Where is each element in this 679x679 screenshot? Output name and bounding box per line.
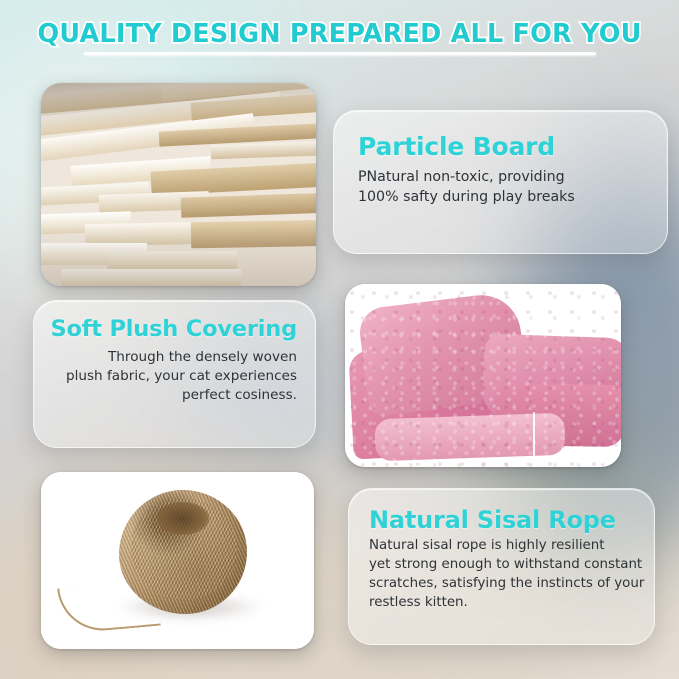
feature-body-natural-sisal-rope: Natural sisal rope is highly resilient y…	[369, 537, 654, 612]
sisal-rope-ball-photo	[41, 472, 314, 649]
infographic-canvas: QUALITY DESIGN PREPARED ALL FOR YOU	[0, 0, 679, 679]
feature-card-soft-plush-covering: Soft Plush Covering Through the densely …	[33, 300, 316, 448]
plush-photo-texture	[345, 284, 621, 467]
rope-ball-center	[157, 502, 208, 534]
particle-board-photo-surface	[41, 83, 316, 286]
feature-title-natural-sisal-rope: Natural Sisal Rope	[369, 507, 654, 533]
page-title: QUALITY DESIGN PREPARED ALL FOR YOU	[38, 20, 642, 49]
particle-board-photo-shading	[41, 83, 316, 286]
particle-board-photo	[41, 83, 316, 286]
feature-card-natural-sisal-rope: Natural Sisal Rope Natural sisal rope is…	[348, 488, 655, 645]
header-banner: QUALITY DESIGN PREPARED ALL FOR YOU	[0, 20, 679, 55]
feature-title-particle-board: Particle Board	[358, 133, 667, 161]
pink-plush-fabric-photo	[345, 284, 621, 467]
feature-body-particle-board: PNatural non-toxic, providing 100% safty…	[358, 167, 667, 207]
feature-body-soft-plush-covering: Through the densely woven plush fabric, …	[34, 348, 297, 406]
title-underline	[84, 52, 596, 55]
feature-title-soft-plush-covering: Soft Plush Covering	[34, 317, 297, 342]
feature-card-particle-board: Particle Board PNatural non-toxic, provi…	[333, 110, 668, 254]
